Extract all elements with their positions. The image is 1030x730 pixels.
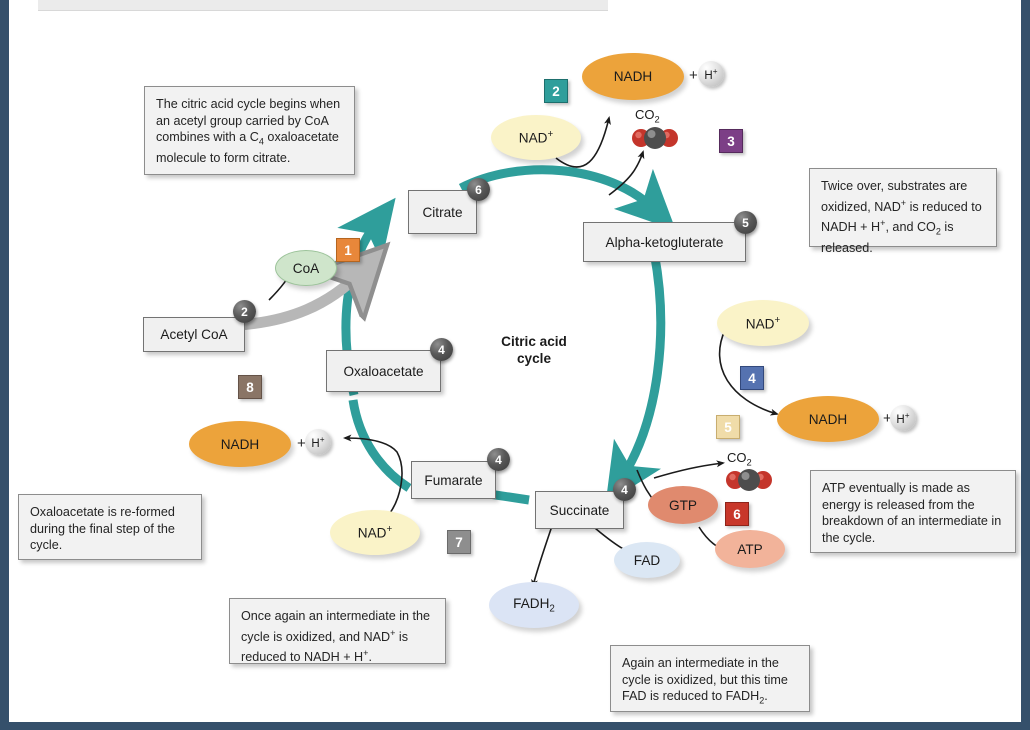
molecule-h-plus-right[interactable]: H+ bbox=[890, 405, 916, 431]
step-badge-5[interactable]: 5 bbox=[716, 415, 740, 439]
node-number-citrate: 6 bbox=[467, 178, 490, 201]
molecule-box-succinate[interactable]: Succinate bbox=[535, 491, 624, 529]
molecule-h-plus-left[interactable]: H+ bbox=[305, 429, 331, 455]
molecule-atp[interactable]: ATP bbox=[715, 530, 785, 568]
nad-to-nadh-left-arrow bbox=[345, 438, 402, 517]
plus-sign-top: + bbox=[689, 67, 698, 84]
molecule-label: Oxaloacetate bbox=[343, 364, 423, 379]
step-badge-6[interactable]: 6 bbox=[725, 502, 749, 526]
cycle-center-label-line2: cycle bbox=[479, 350, 589, 367]
molecule-nad-plus-top[interactable]: NAD+ bbox=[491, 115, 581, 160]
page-frame-bottom bbox=[0, 722, 1030, 730]
molecule-label: ATP bbox=[737, 542, 762, 557]
molecule-box-acetyl-coa[interactable]: Acetyl CoA bbox=[143, 317, 245, 352]
molecule-nadh-left[interactable]: NADH bbox=[189, 421, 291, 467]
step-badge-8[interactable]: 8 bbox=[238, 375, 262, 399]
molecule-label: NADH bbox=[221, 437, 260, 452]
page-frame-right bbox=[1021, 0, 1030, 730]
co2-molecule-bottom bbox=[725, 468, 773, 492]
molecule-box-oxaloacetate[interactable]: Oxaloacetate bbox=[326, 350, 441, 392]
co2-label-top: CO2 bbox=[635, 107, 660, 125]
node-number-succinate: 4 bbox=[613, 478, 636, 501]
molecule-fadh2[interactable]: FADH2 bbox=[489, 582, 579, 628]
node-number-acetyl-coa: 2 bbox=[233, 300, 256, 323]
molecule-fad[interactable]: FAD bbox=[614, 542, 680, 578]
molecule-box-citrate[interactable]: Citrate bbox=[408, 190, 477, 234]
node-number-oxaloacetate: 4 bbox=[430, 338, 453, 361]
step-badge-2[interactable]: 2 bbox=[544, 79, 568, 103]
step-badge-1[interactable]: 1 bbox=[336, 238, 360, 262]
cycle-center-label: Citric acid cycle bbox=[479, 333, 589, 367]
molecule-nad-plus-right[interactable]: NAD+ bbox=[717, 300, 809, 346]
molecule-label: Acetyl CoA bbox=[160, 327, 227, 342]
co2-label-bottom: CO2 bbox=[727, 450, 752, 468]
molecule-label: GTP bbox=[669, 498, 697, 513]
molecule-label: CoA bbox=[293, 261, 319, 276]
molecule-box-alpha-ketogluterate[interactable]: Alpha-ketogluterate bbox=[583, 222, 746, 262]
molecule-label: NADH bbox=[614, 69, 653, 84]
step-badge-3[interactable]: 3 bbox=[719, 129, 743, 153]
co2-release-bottom-arrow bbox=[654, 463, 723, 478]
molecule-label: Citrate bbox=[422, 205, 462, 220]
molecule-nadh-top[interactable]: NADH bbox=[582, 53, 684, 100]
molecule-label: NADH bbox=[809, 412, 848, 427]
cycle-center-label-line1: Citric acid bbox=[479, 333, 589, 350]
step-badge-7[interactable]: 7 bbox=[447, 530, 471, 554]
co2-release-top-arrow bbox=[609, 152, 643, 195]
molecule-h-plus-top[interactable]: H+ bbox=[698, 61, 724, 87]
molecule-nadh-right[interactable]: NADH bbox=[777, 396, 879, 442]
molecule-gtp[interactable]: GTP bbox=[648, 486, 718, 524]
molecule-coa[interactable]: CoA bbox=[275, 250, 337, 286]
molecule-box-fumarate[interactable]: Fumarate bbox=[411, 461, 496, 499]
molecule-label: FAD bbox=[634, 553, 660, 568]
diagram-canvas: The citric acid cycle begins when an ace… bbox=[9, 0, 1021, 722]
molecule-nad-plus-left[interactable]: NAD+ bbox=[330, 510, 420, 555]
page-frame-left bbox=[0, 0, 9, 730]
node-number-alpha-ketogluterate: 5 bbox=[734, 211, 757, 234]
node-number-fumarate: 4 bbox=[487, 448, 510, 471]
step-badge-4[interactable]: 4 bbox=[740, 366, 764, 390]
molecule-label: Alpha-ketogluterate bbox=[606, 235, 724, 250]
molecule-label: Succinate bbox=[550, 503, 610, 518]
molecule-label: Fumarate bbox=[424, 473, 482, 488]
co2-molecule-top bbox=[631, 126, 679, 150]
